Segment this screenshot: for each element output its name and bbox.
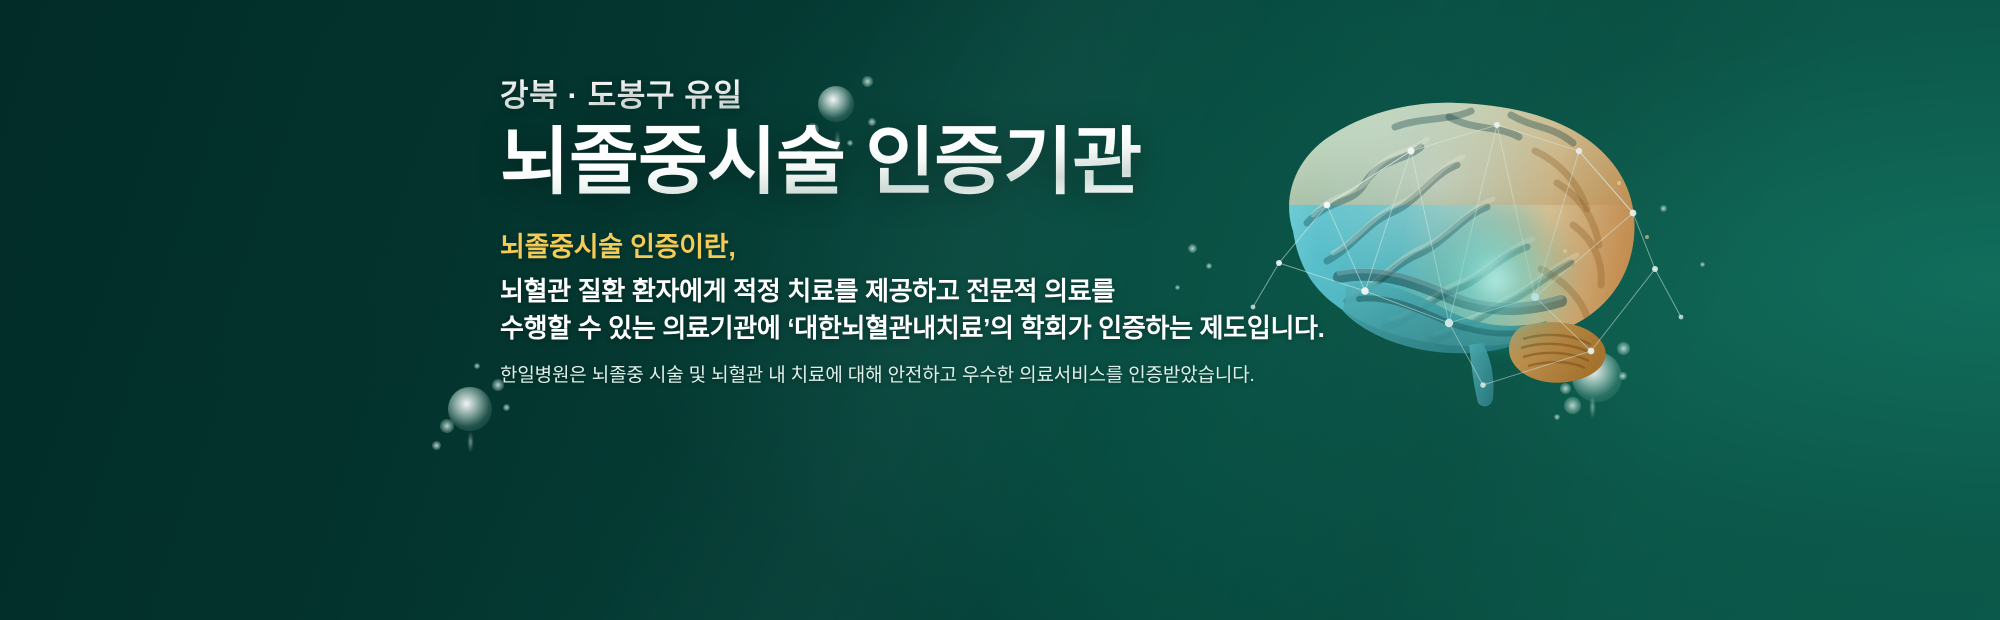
bokeh-dot [440,419,454,433]
stroke-certification-banner: 강북 · 도봉구 유일 뇌졸중시술 인증기관 뇌졸중시술 인증이란, 뇌혈관 질… [0,0,2000,620]
bokeh-streak [1591,395,1594,419]
banner-body-line-2: 수행할 수 있는 의료기관에 ‘대한뇌혈관내치료’의 학회가 인증하는 제도입니… [500,310,1420,347]
bokeh-dot [1619,372,1627,380]
bokeh-particle [448,387,492,431]
bokeh-dot [1700,262,1705,267]
bokeh-dot [474,363,480,369]
brain-activity-glow [1411,205,1581,355]
bokeh-particle [1572,352,1622,402]
bokeh-dot [1554,414,1560,420]
banner-headline: 뇌졸중시술 인증기관 [500,125,1420,199]
banner-content: 강북 · 도봉구 유일 뇌졸중시술 인증기관 뇌졸중시술 인증이란, 뇌혈관 질… [500,70,1420,347]
banner-eyebrow: 강북 · 도봉구 유일 [500,70,1420,115]
banner-caption: 한일병원은 뇌졸중 시술 및 뇌혈관 내 치료에 대해 안전하고 우수한 의료서… [500,360,1255,387]
bokeh-dot [503,404,510,411]
banner-body-line-1: 뇌혈관 질환 환자에게 적정 치료를 제공하고 전문적 의료를 [500,273,1420,310]
banner-subhead: 뇌졸중시술 인증이란, [500,225,1420,264]
bokeh-streak [469,431,472,453]
bokeh-dot [1564,397,1581,414]
bokeh-dot [1560,383,1571,394]
bokeh-dot [432,441,441,450]
bokeh-dot [1617,342,1630,355]
bokeh-dot [1660,205,1667,212]
bokeh-dot [1586,345,1593,352]
